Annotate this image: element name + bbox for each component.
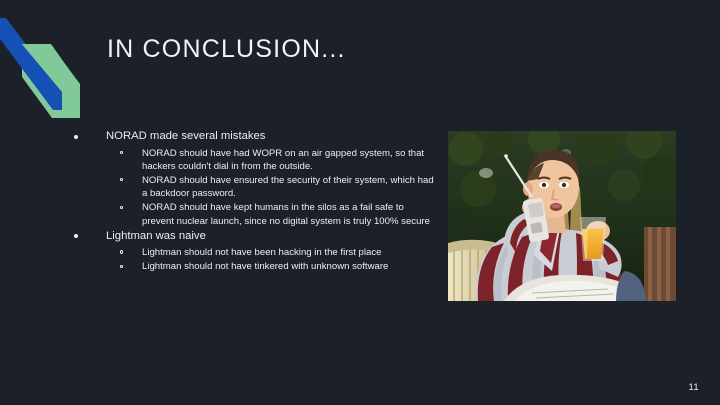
sub-bullet-item: Lightman should not have tinkered with u…	[106, 260, 438, 273]
page-title: IN CONCLUSION...	[107, 36, 346, 64]
disc-bullet-icon	[74, 234, 78, 238]
circle-bullet-icon	[120, 178, 123, 181]
bullet-text: Lightman was naive	[106, 229, 438, 246]
bullet-text: NORAD made several mistakes	[106, 129, 438, 146]
sub-bullet-item: NORAD should have ensured the security o…	[106, 174, 438, 200]
bullet-list-level1: NORAD made several mistakes NORAD should…	[68, 129, 438, 274]
sub-bullet-item: NORAD should have had WOPR on an air gap…	[106, 147, 438, 173]
page-number: 11	[689, 382, 699, 393]
bullet-list-level2: Lightman should not have been hacking in…	[106, 246, 438, 273]
circle-bullet-icon	[120, 206, 123, 209]
circle-bullet-icon	[120, 250, 123, 253]
decorative-chevron-graphic	[0, 18, 110, 118]
sub-bullet-text: NORAD should have had WOPR on an air gap…	[142, 148, 424, 172]
bullet-list-level2: NORAD should have had WOPR on an air gap…	[106, 147, 438, 228]
bullet-item: Lightman was naive Lightman should not h…	[68, 229, 438, 274]
slide: IN CONCLUSION... NORAD made several mist…	[0, 0, 720, 405]
disc-bullet-icon	[74, 135, 78, 139]
sub-bullet-text: Lightman should not have been hacking in…	[142, 247, 381, 258]
content-body: NORAD made several mistakes NORAD should…	[68, 129, 438, 275]
sub-bullet-item: NORAD should have kept humans in the sil…	[106, 201, 438, 227]
slide-photo	[448, 131, 676, 301]
sub-bullet-text: NORAD should have kept humans in the sil…	[142, 202, 430, 226]
circle-bullet-icon	[120, 151, 123, 154]
sub-bullet-text: Lightman should not have tinkered with u…	[142, 261, 388, 272]
circle-bullet-icon	[120, 265, 123, 268]
sub-bullet-item: Lightman should not have been hacking in…	[106, 246, 438, 259]
sub-bullet-text: NORAD should have ensured the security o…	[142, 175, 434, 199]
bullet-item: NORAD made several mistakes NORAD should…	[68, 129, 438, 228]
